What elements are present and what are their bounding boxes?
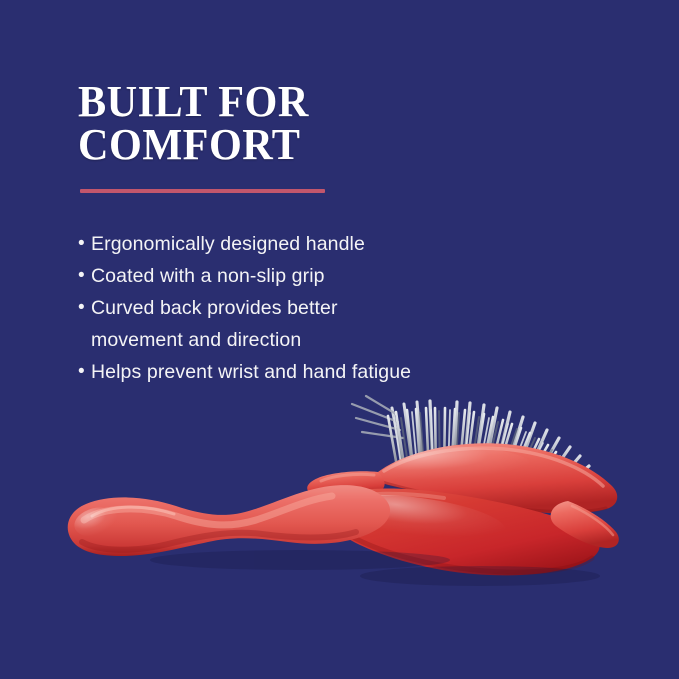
bullet-dot-icon: •	[78, 228, 91, 260]
accent-divider	[80, 189, 325, 193]
list-item-label: Ergonomically designed handle	[91, 228, 508, 260]
list-item: • Coated with a non-slip grip	[78, 260, 508, 292]
list-item-label: Coated with a non-slip grip	[91, 260, 508, 292]
list-item: • Curved back provides better movement a…	[78, 292, 508, 356]
product-image-slicker-brush	[0, 360, 679, 620]
list-item: • Ergonomically designed handle	[78, 228, 508, 260]
brush-handle	[68, 485, 390, 556]
poster-canvas: BUILT FOR COMFORT • Ergonomically design…	[0, 0, 679, 679]
page-title: BUILT FOR COMFORT	[78, 80, 491, 166]
list-item-label: Curved back provides better movement and…	[91, 292, 508, 356]
bullet-dot-icon: •	[78, 292, 91, 324]
bullet-dot-icon: •	[78, 260, 91, 292]
